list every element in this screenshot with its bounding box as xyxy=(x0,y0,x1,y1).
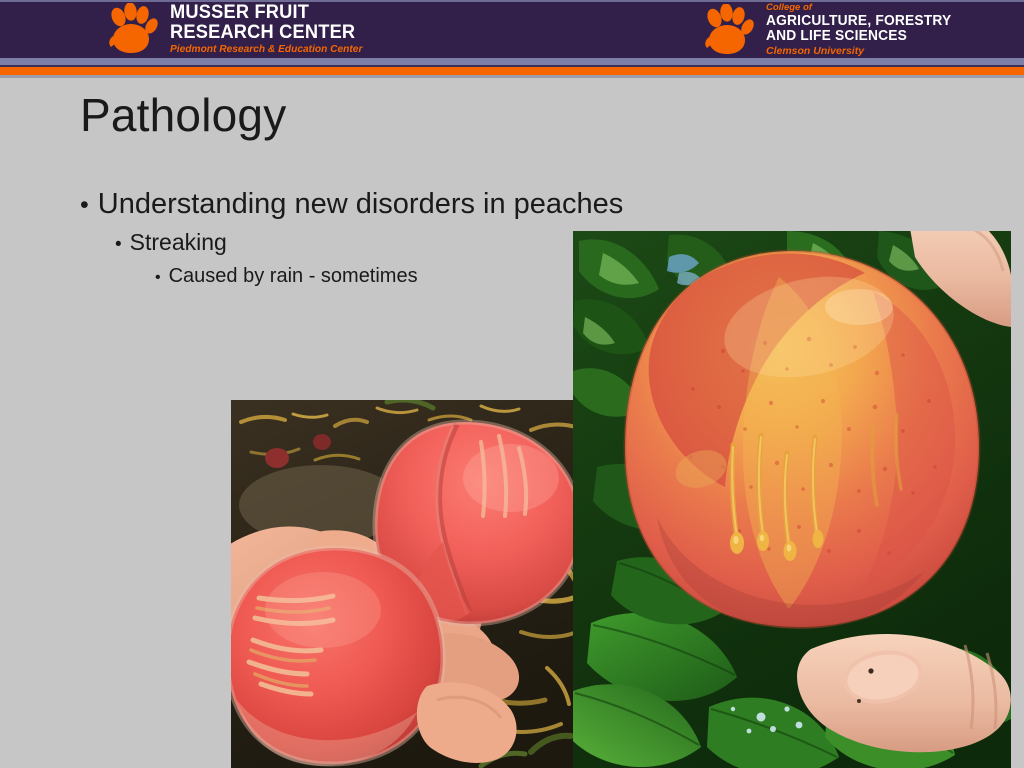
clemson-tiger-paw-icon xyxy=(104,3,160,55)
cafls-logo-line-1: AGRICULTURE, FORESTRY xyxy=(766,14,951,29)
musser-fruit-research-center-logo: MUSSER FRUIT RESEARCH CENTER Piedmont Re… xyxy=(104,3,368,55)
cafls-logo-eyebrow: College of xyxy=(766,3,961,13)
banner-lavender-stripe xyxy=(0,58,1024,65)
bullet-marker-icon: • xyxy=(115,234,122,256)
bullet-level-2: • Streaking xyxy=(115,229,227,256)
bullet-level-1-text: Understanding new disorders in peaches xyxy=(98,188,624,221)
two-peaches-in-hand-photo xyxy=(231,400,597,768)
musser-logo-tagline: Piedmont Research & Education Center xyxy=(170,44,362,55)
slide-title: Pathology xyxy=(80,88,286,142)
cafls-logo-text: College of AGRICULTURE, FORESTRY AND LIF… xyxy=(766,3,961,56)
cafls-clemson-logo: College of AGRICULTURE, FORESTRY AND LIF… xyxy=(700,3,961,56)
bullet-level-2-text: Streaking xyxy=(130,229,227,256)
banner-top-hairline xyxy=(0,0,1024,2)
cafls-logo-line-2: AND LIFE SCIENCES xyxy=(766,29,951,44)
cafls-logo-tagline: Clemson University xyxy=(766,46,961,57)
bullet-marker-icon: • xyxy=(155,269,161,287)
musser-logo-line-1: MUSSER FRUIT xyxy=(170,3,360,23)
musser-logo-line-2: RESEARCH CENTER xyxy=(170,23,360,43)
bullet-level-1: • Understanding new disorders in peaches xyxy=(80,188,623,221)
banner-gray-hairline xyxy=(0,75,1024,78)
bullet-marker-icon: • xyxy=(80,191,89,220)
banner-orange-stripe xyxy=(0,67,1024,75)
clemson-tiger-paw-icon xyxy=(700,4,756,56)
bullet-level-3-text: Caused by rain - sometimes xyxy=(169,265,418,288)
musser-logo-text: MUSSER FRUIT RESEARCH CENTER Piedmont Re… xyxy=(170,3,368,55)
peach-on-tree-photo xyxy=(573,231,1011,768)
presentation-slide: MUSSER FRUIT RESEARCH CENTER Piedmont Re… xyxy=(0,0,1024,768)
bullet-level-3: • Caused by rain - sometimes xyxy=(155,265,418,288)
